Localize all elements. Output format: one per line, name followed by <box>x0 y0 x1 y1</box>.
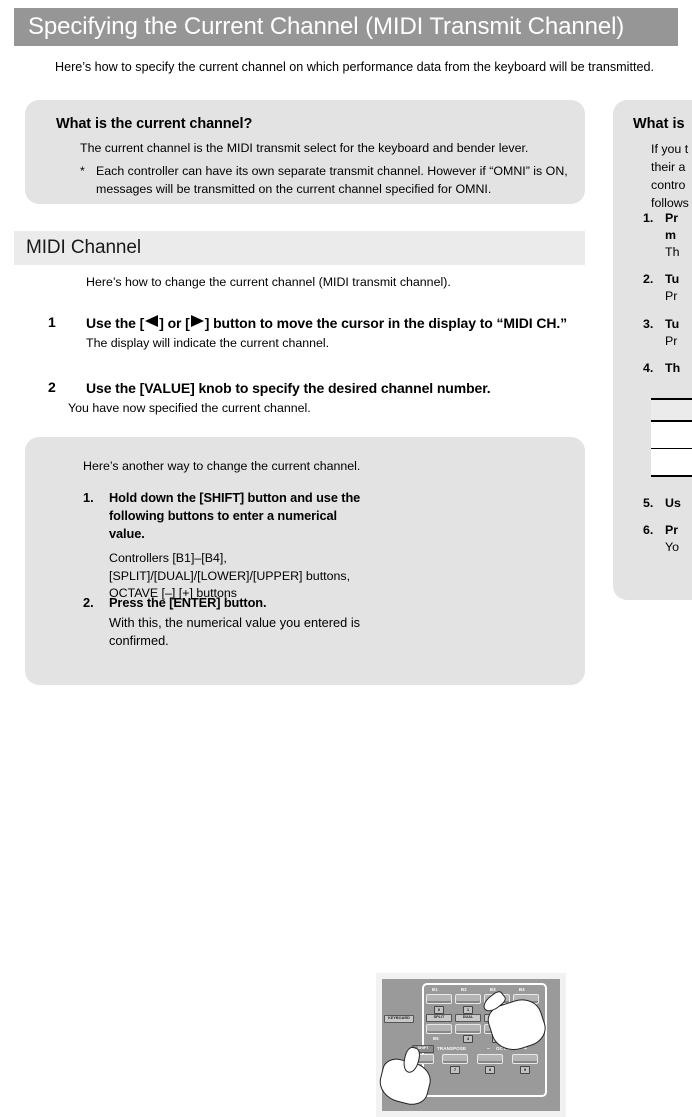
section-heading: MIDI Channel <box>14 237 141 259</box>
step-sub: Yo <box>665 539 692 556</box>
table-header-row: It <box>651 399 692 421</box>
step-number: 1 <box>48 314 56 330</box>
panel-button-dual[interactable] <box>455 1024 481 1034</box>
triangle-right-icon <box>191 315 204 327</box>
table-cell: OMN <box>651 421 692 449</box>
step-sub: Pr <box>665 333 692 350</box>
callout-right-steps-2: 5. Us 6. Pr Yo <box>643 495 692 566</box>
table-header-item: It <box>651 399 692 421</box>
panel-label-octave-minus: – <box>487 1046 490 1052</box>
step-number: 5. <box>643 495 653 512</box>
panel-key-4[interactable]: 4 <box>463 1035 473 1043</box>
panel-key-1[interactable]: 1 <box>463 1006 473 1014</box>
step-number: 6. <box>643 522 653 539</box>
step-sub: Pr <box>665 288 692 305</box>
panel-key-8[interactable]: 8 <box>485 1066 495 1074</box>
callout-note: * Each controller can have its own separ… <box>80 163 575 198</box>
step-number: 3. <box>643 316 653 333</box>
step-bold: Pr m <box>665 210 692 244</box>
step-sub: Th <box>665 244 692 261</box>
step-bold: Tu <box>665 271 692 288</box>
panel-button-b2[interactable] <box>455 994 481 1004</box>
step-number: 1. <box>643 210 653 227</box>
step-plain: With this, the numerical value you enter… <box>109 614 363 650</box>
step-bold: Us <box>665 495 692 512</box>
step-number: 2. <box>83 594 94 612</box>
section-header-midi-channel: MIDI Channel <box>14 231 585 265</box>
list-item: 2. Press the [ENTER] button. With this, … <box>83 594 363 650</box>
panel-key-0[interactable]: 0 <box>434 1006 444 1014</box>
table-row: OMN <box>651 421 692 449</box>
synth-panel-photo: KEYBOARD B1 B2 B3 B4 0 1 2 3 SPLIT DUAL … <box>376 973 566 1117</box>
panel-button-octave-minus[interactable] <box>477 1054 503 1064</box>
panel-label-transpose: TRANSPOSE <box>437 1046 466 1051</box>
step-bold: Press the [ENTER] button. <box>109 595 266 610</box>
step-1-description: The display will indicate the current ch… <box>86 336 578 350</box>
step-1-text-mid: ] or [ <box>159 315 190 331</box>
list-item: 1. Hold down the [SHIFT] button and use … <box>83 489 363 543</box>
callout-heading: What is the current channel? <box>56 116 252 132</box>
intro-paragraph: Here’s how to specify the current channe… <box>55 59 692 76</box>
callout-bottom-steps-2: 2. Press the [ENTER] button. With this, … <box>83 594 363 650</box>
step-2-description: You have now specified the current chann… <box>68 401 578 415</box>
step-1-instruction: Use the [] or [] button to move the curs… <box>86 314 578 333</box>
panel-label-b1: B1 <box>432 987 438 992</box>
panel-button-b1[interactable] <box>426 994 452 1004</box>
callout-bottom-lead: Here’s another way to change the current… <box>83 459 360 473</box>
callout-omni: What is If you t their a contro follows … <box>613 100 692 600</box>
step-bold: Pr <box>665 522 692 539</box>
triangle-left-icon <box>145 315 158 327</box>
panel-button-transpose[interactable] <box>442 1054 468 1064</box>
step-number: 1. <box>83 489 94 507</box>
step-bold: Th <box>665 360 692 377</box>
note-asterisk: * <box>80 163 85 181</box>
panel-label-b4: B4 <box>519 987 525 992</box>
callout-alternate-method: Here’s another way to change the current… <box>25 437 585 685</box>
table-row: OMN <box>651 449 692 477</box>
section-lead-text: Here’s how to change the current channel… <box>86 275 451 289</box>
table-cell: OMN <box>651 449 692 477</box>
procedure-step-2: 2 Use the [VALUE] knob to specify the de… <box>48 379 578 415</box>
omni-table: It OMN OMN <box>651 398 692 477</box>
panel-label-b5: B5 <box>433 1036 439 1041</box>
step-number: 2 <box>48 379 56 395</box>
step-bold: Tu <box>665 316 692 333</box>
step-number: 2. <box>643 271 653 288</box>
callout-right-heading: What is <box>633 116 685 132</box>
callout-paragraph: The current channel is the MIDI transmit… <box>80 141 528 155</box>
panel-label-split: SPLIT <box>426 1014 452 1022</box>
list-item: 6. Pr Yo <box>643 522 692 556</box>
callout-current-channel: What is the current channel? The current… <box>25 100 585 204</box>
note-text: Each controller can have its own separat… <box>80 163 575 198</box>
list-item: 4. Th <box>643 360 692 377</box>
panel-key-7[interactable]: 7 <box>450 1066 460 1074</box>
panel-label-keyboard: KEYBOARD <box>384 1015 414 1023</box>
step-1-text-after: ] button to move the cursor in the displ… <box>205 315 567 331</box>
list-item: 2. Tu Pr <box>643 271 692 305</box>
panel-label-b2: B2 <box>461 987 467 992</box>
procedure-step-1: 1 Use the [] or [] button to move the cu… <box>48 314 578 350</box>
page-title-bar: Specifying the Current Channel (MIDI Tra… <box>14 8 678 46</box>
step-1-text-before: Use the [ <box>86 315 144 331</box>
step-2-instruction: Use the [VALUE] knob to specify the desi… <box>86 379 578 398</box>
callout-right-steps: 1. Pr m Th 2. Tu Pr 3. Tu Pr 4. Th <box>643 210 692 387</box>
list-item: 5. Us <box>643 495 692 512</box>
callout-bottom-steps: 1. Hold down the [SHIFT] button and use … <box>83 489 363 543</box>
step-number: 4. <box>643 360 653 377</box>
panel-key-9[interactable]: 9 <box>520 1066 530 1074</box>
list-item: 3. Tu Pr <box>643 316 692 350</box>
panel-button-split[interactable] <box>426 1024 452 1034</box>
callout-right-body: If you t their a contro follows <box>651 141 692 213</box>
panel-label-dual: DUAL <box>455 1014 481 1022</box>
step-bold: Hold down the [SHIFT] button and use the… <box>109 490 360 541</box>
list-item: 1. Pr m Th <box>643 210 692 261</box>
page-title: Specifying the Current Channel (MIDI Tra… <box>14 13 624 41</box>
panel-button-octave-plus[interactable] <box>512 1054 538 1064</box>
